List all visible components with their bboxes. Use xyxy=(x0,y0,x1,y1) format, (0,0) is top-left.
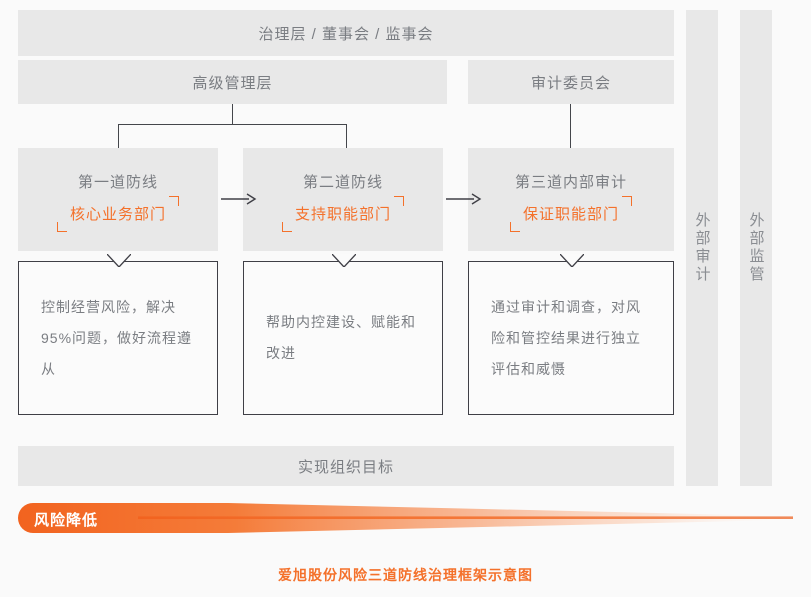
description-text-1: 控制经营风险，解决95%问题，做好流程遵从 xyxy=(19,292,217,385)
defense-line-box-3: 第三道内部审计 保证职能部门 xyxy=(468,148,674,251)
description-text-2: 帮助内控建设、赋能和改进 xyxy=(244,307,442,369)
connector-drop-left xyxy=(118,124,119,148)
defense-line-dept-wrap-1: 核心业务部门 xyxy=(57,200,179,229)
defense-line-box-1: 第一道防线 核心业务部门 xyxy=(18,148,218,251)
external-regulation-column: 外部监管 xyxy=(740,10,772,486)
governance-band: 治理层 / 董事会 / 监事会 xyxy=(18,10,674,56)
connector-drop-right xyxy=(346,124,347,148)
defense-line-title-3: 第三道内部审计 xyxy=(515,171,627,192)
arrow-right-icon xyxy=(446,192,482,206)
connector-horizontal-bar xyxy=(118,124,347,125)
defense-line-dept-1: 核心业务部门 xyxy=(70,206,166,223)
senior-management-band: 高级管理层 xyxy=(18,60,447,104)
goal-band: 实现组织目标 xyxy=(18,446,674,486)
arrow-right-icon xyxy=(221,192,257,206)
diagram-caption: 爱旭股份风险三道防线治理框架示意图 xyxy=(0,565,811,585)
defense-line-dept-wrap-3: 保证职能部门 xyxy=(510,200,632,229)
risk-reduction-label: 风险降低 xyxy=(34,509,98,530)
audit-committee-band: 审计委员会 xyxy=(468,60,674,104)
governance-band-label: 治理层 / 董事会 / 监事会 xyxy=(258,23,433,44)
external-audit-label: 外部审计 xyxy=(692,212,713,284)
connector-audit-committee xyxy=(570,104,571,148)
chevron-down-icon xyxy=(560,254,584,267)
defense-line-dept-3: 保证职能部门 xyxy=(523,206,619,223)
external-audit-column: 外部审计 xyxy=(686,10,718,486)
audit-committee-label: 审计委员会 xyxy=(531,72,611,93)
defense-line-title-1: 第一道防线 xyxy=(78,171,158,192)
defense-line-title-2: 第二道防线 xyxy=(303,171,383,192)
external-regulation-label: 外部监管 xyxy=(746,212,767,284)
chevron-down-icon xyxy=(107,254,131,267)
defense-line-dept-wrap-2: 支持职能部门 xyxy=(282,200,404,229)
chevron-down-icon xyxy=(332,254,356,267)
diagram-canvas: 治理层 / 董事会 / 监事会 高级管理层 审计委员会 第一道防线 核心业务部门… xyxy=(0,0,811,597)
description-text-3: 通过审计和调查，对风险和管控结果进行独立评估和威慑 xyxy=(469,292,673,385)
defense-line-dept-2: 支持职能部门 xyxy=(295,206,391,223)
description-box-2: 帮助内控建设、赋能和改进 xyxy=(243,261,443,415)
goal-band-label: 实现组织目标 xyxy=(298,456,394,477)
description-box-1: 控制经营风险，解决95%问题，做好流程遵从 xyxy=(18,261,218,415)
description-box-3: 通过审计和调查，对风险和管控结果进行独立评估和威慑 xyxy=(468,261,674,415)
risk-reduction-bar xyxy=(18,503,793,533)
connector-senior-stem xyxy=(232,104,233,125)
senior-management-label: 高级管理层 xyxy=(192,72,272,93)
defense-line-box-2: 第二道防线 支持职能部门 xyxy=(243,148,443,251)
